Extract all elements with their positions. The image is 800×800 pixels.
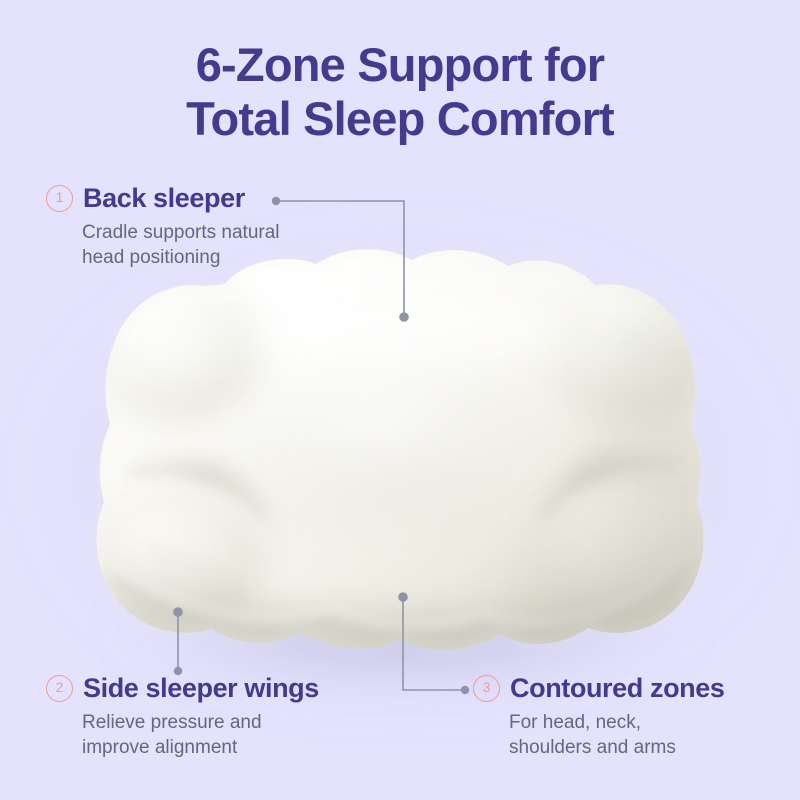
callout-1-title: Back sleeper — [83, 183, 245, 214]
callout-1-head: 1 Back sleeper — [46, 183, 280, 214]
callout-3-title: Contoured zones — [510, 673, 725, 704]
title-line-2: Total Sleep Comfort — [0, 92, 800, 146]
page-title: 6-Zone Support for Total Sleep Comfort — [0, 38, 800, 146]
callout-2-head: 2 Side sleeper wings — [46, 673, 319, 704]
callout-side-sleeper-wings: 2 Side sleeper wings Relieve pressure an… — [46, 673, 319, 760]
callout-3-head: 3 Contoured zones — [473, 673, 725, 704]
title-line-1: 6-Zone Support for — [0, 38, 800, 92]
callout-1-description: Cradle supports natural head positioning — [82, 220, 280, 270]
callout-3-description: For head, neck, shoulders and arms — [509, 710, 725, 760]
callout-1-number-badge: 1 — [46, 185, 73, 212]
callout-2-number-badge: 2 — [46, 675, 73, 702]
callout-back-sleeper: 1 Back sleeper Cradle supports natural h… — [46, 183, 280, 270]
callout-2-title: Side sleeper wings — [83, 673, 319, 704]
callout-2-description: Relieve pressure and improve alignment — [82, 710, 319, 760]
callout-3-number-badge: 3 — [473, 675, 500, 702]
callout-contoured-zones: 3 Contoured zones For head, neck, should… — [473, 673, 725, 760]
pillow-infographic: 6-Zone Support for Total Sleep Comfort 1… — [0, 0, 800, 800]
